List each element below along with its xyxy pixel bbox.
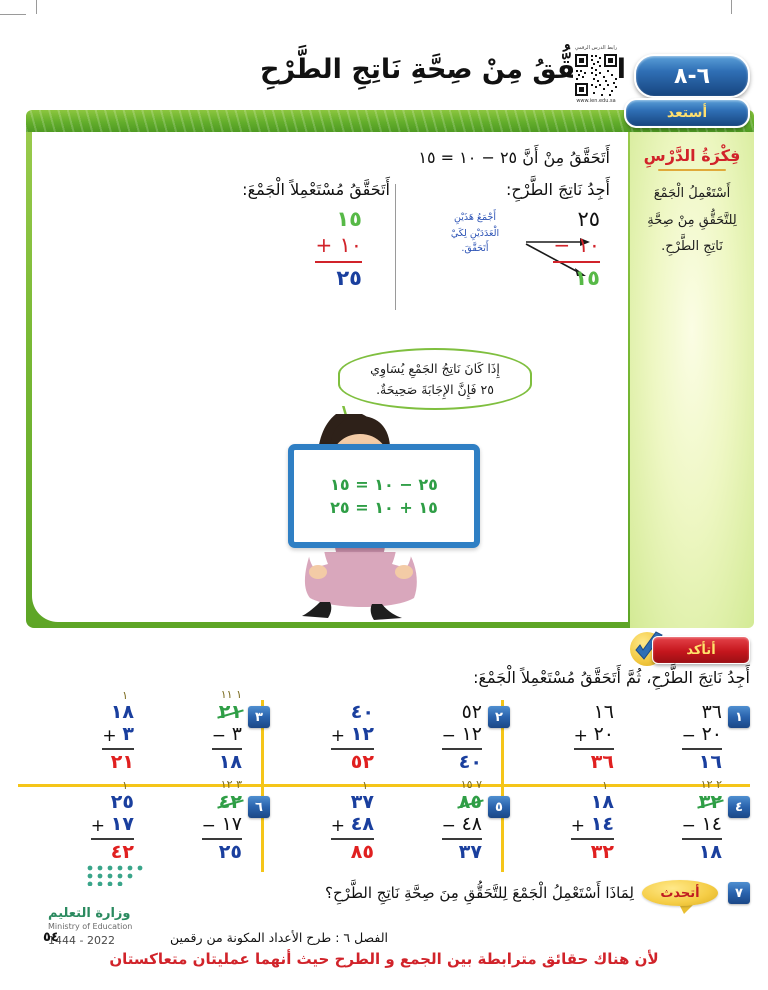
ex1-add-operator: +: [574, 726, 586, 746]
ex6-sub-regroup: ٣ ١٢: [221, 778, 242, 791]
example-addition-heading: أَتَحَقَّقُ مُسْتَعْمِلاً الْجَمْعَ:: [200, 180, 390, 199]
ex2-add-bottom-row: +١٢: [331, 724, 374, 746]
confirm-instruction: أَجِدُ نَاتِجَ الطَّرْحِ، ثُمَّ أَتَحَقَ…: [0, 668, 750, 687]
exercise-cell-2: ٢ ٥٢ −١٢ ٤٠ ٤٠ +١٢ ٥٢: [264, 700, 510, 786]
whiteboard: ٢٥ − ١٠ = ١٥ ١٥ + ١٠ = ٢٥: [288, 444, 480, 548]
ex4-sub-bottom: ١٤: [702, 813, 722, 836]
example-sub-subtrahend: ١٠: [577, 232, 600, 258]
exercise-2-addition: ٤٠ +١٢ ٥٢: [331, 702, 374, 774]
exercise-2-subtraction: ٥٢ −١٢ ٤٠: [442, 702, 482, 774]
ex2-add-result-row[interactable]: ٥٢: [331, 752, 374, 774]
exercise-1-addition: ١٦ +٢٠ ٣٦: [574, 702, 614, 774]
example-add-addend2-row: + ١٠: [315, 232, 362, 258]
ex6-sub-result-row[interactable]: ٢٥: [202, 842, 242, 864]
example-addition-sum: ١٥ + ١٠ ٢٥: [315, 206, 362, 291]
ex2-sub-top-row: ٥٢: [442, 702, 482, 724]
ex5-add-rule: [331, 838, 374, 840]
ex3-add-bottom-row: +٣: [102, 724, 134, 746]
ex2-add-top: ٤٠: [351, 701, 374, 724]
exercise-6-subtraction: ٣ ١٢ ٤٢ −١٧ ٢٥: [202, 792, 242, 864]
ex5-add-bottom: ٤٨: [351, 813, 374, 836]
ex1-sub-bottom-row: −٢٠: [682, 724, 722, 746]
example-add-result: ٢٥: [336, 265, 362, 291]
lesson-idea-divider: [658, 169, 726, 171]
ex5-add-operator: +: [331, 816, 343, 836]
exercise-4-addition: ١ ١٨ +١٤ ٣٢: [571, 792, 614, 864]
ex4-sub-regroup: ٢ ١٢: [701, 778, 722, 791]
qr-caption: رابط الدرس الرقمي: [568, 46, 624, 51]
ex6-sub-top: ٤٢: [219, 791, 242, 814]
lesson-idea-body: أَسْتَعْمِلُ الْجَمْعَ لِلتَّحَقُّقِ مِن…: [636, 181, 748, 261]
lesson-idea-line-2: لِلتَّحَقُّقِ مِنْ صِحَّةِ: [636, 208, 748, 235]
ex4-sub-operator: −: [682, 816, 694, 836]
ex4-sub-bottom-row: −١٤: [682, 814, 722, 836]
ex6-sub-rule: [202, 838, 242, 840]
answer-note: لأن هناك حقائق مترابطة بين الجمع و الطرح…: [0, 950, 768, 968]
ex4-add-result-row[interactable]: ٣٢: [571, 842, 614, 864]
ex3-add-operator: +: [102, 726, 114, 746]
whiteboard-line-1: ٢٥ − ١٠ = ١٥: [330, 475, 438, 494]
example-add-operator: +: [315, 233, 329, 258]
example-add-addend1-row: ١٥: [315, 206, 362, 232]
ex3-add-bottom: ٣: [122, 723, 134, 746]
example-sub-result-row: ١٥: [553, 265, 600, 291]
ex3-sub-operator: −: [212, 726, 224, 746]
ex4-add-bottom: ١٤: [591, 813, 614, 836]
crop-mark-top-right: [731, 0, 732, 14]
ex2-add-rule: [331, 748, 374, 750]
ex6-add-carry: ١: [122, 779, 128, 792]
whiteboard-line-2: ١٥ + ١٠ = ٢٥: [330, 498, 438, 517]
publication-year: 2022 - 1444: [48, 934, 178, 947]
ex3-add-top-row: ١٨: [102, 702, 134, 724]
ex5-add-carry: ١: [362, 779, 368, 792]
ex5-add-bottom-row: +٤٨: [331, 814, 374, 836]
ex5-add-result-row[interactable]: ٨٥: [331, 842, 374, 864]
chapter-label: الفصل ٦ : طرح الأعداد المكونة من رقمين: [170, 930, 388, 945]
ex4-add-rule: [571, 838, 614, 840]
prepare-section-badge: أستعد: [624, 98, 750, 128]
exercise-number-2: ٢: [488, 706, 510, 728]
example-statement: أَتَحَقَّقُ مِنْ أَنَّ ٢٥ − ١٠ = ١٥: [418, 148, 610, 167]
example-addition-column: أَتَحَقَّقُ مُسْتَعْمِلاً الْجَمْعَ: ١٥ …: [200, 180, 390, 205]
ex3-sub-rule: [212, 748, 242, 750]
ex6-add-bottom-row: +١٧: [91, 814, 134, 836]
ex3-sub-result[interactable]: ١٨: [219, 751, 242, 774]
ex5-sub-bottom: ٤٨: [462, 813, 482, 836]
example-add-addend-1: ١٥: [336, 206, 362, 232]
ex6-add-top: ٢٥: [111, 791, 134, 814]
example-sub-operator: −: [553, 233, 567, 258]
qr-code-block[interactable]: رابط الدرس الرقمي: [568, 46, 624, 104]
page-header: ٦-٨ التَّحَقُّقُ مِنْ صِحَّةِ نَاتِجِ ال…: [0, 24, 768, 102]
ex4-sub-rule: [682, 838, 722, 840]
ex6-add-operator: +: [91, 816, 103, 836]
ex1-sub-top: ٣٦: [702, 701, 722, 724]
ex5-sub-bottom-row: −٤٨: [442, 814, 482, 836]
example-hint-line-2: الْعَدَدَيْنِ لِكَيْ: [432, 226, 518, 242]
ministry-name-english: Ministry of Education: [48, 922, 178, 931]
ex5-sub-result[interactable]: ٣٧: [459, 841, 482, 864]
ex6-add-result-row[interactable]: ٤٢: [91, 842, 134, 864]
ex3-sub-result-row[interactable]: ١٨: [212, 752, 242, 774]
exercise-cell-1: ١ ٣٦ −٢٠ ١٦ ١٦ +٢٠ ٣٦: [504, 700, 750, 786]
confirm-section-badge: أتأكد: [652, 636, 750, 664]
talk-badge: أتحدث: [642, 880, 718, 906]
ex1-add-result-row[interactable]: ٣٦: [574, 752, 614, 774]
ex4-add-top-row: ١٨: [571, 792, 614, 814]
ex6-sub-top-row: ٤٢: [202, 792, 242, 814]
ministry-logo: وزارة التعليم Ministry of Education 2022…: [48, 906, 178, 947]
ex6-add-rule: [91, 838, 134, 840]
example-add-rule: [315, 261, 362, 263]
ex3-sub-top: ٢١: [219, 701, 242, 724]
decorative-dots: [86, 864, 160, 886]
example-sub-subtrahend-row: − ١٠: [553, 232, 600, 258]
exercise-number-6: ٦: [248, 796, 270, 818]
lesson-idea-title: فِكْرَةُ الدَّرْسِ: [636, 146, 748, 165]
ex6-add-bottom: ١٧: [111, 813, 134, 836]
exercise-6-addition: ١ ٢٥ +١٧ ٤٢: [91, 792, 134, 864]
talk-question-number: ٧: [728, 882, 750, 904]
ex4-add-result[interactable]: ٣٢: [591, 841, 614, 864]
ex5-sub-result-row[interactable]: ٣٧: [442, 842, 482, 864]
ex6-add-top-row: ٢٥: [91, 792, 134, 814]
ex5-sub-top-row: ٨٥: [442, 792, 482, 814]
ex2-sub-rule: [442, 748, 482, 750]
ex1-sub-operator: −: [682, 726, 694, 746]
exercise-grid: ١ ٣٦ −٢٠ ١٦ ١٦ +٢٠ ٣٦ ٢: [18, 700, 750, 872]
qr-url-label: www.ien.edu.sa: [568, 99, 624, 104]
exercise-4-subtraction: ٢ ١٢ ٣٢ −١٤ ١٨: [682, 792, 722, 864]
ex6-sub-bottom: ١٧: [222, 813, 242, 836]
ex2-sub-operator: −: [442, 726, 454, 746]
ex4-add-operator: +: [571, 816, 583, 836]
example-sub-result: ١٥: [574, 265, 600, 291]
ex2-sub-top: ٥٢: [462, 701, 482, 724]
example-hint-line-1: أَجْمَعُ هَذَيْنِ: [432, 210, 518, 226]
ex1-sub-top-row: ٣٦: [682, 702, 722, 724]
talk-question-text: لِمَاذَا أَسْتَعْمِلُ الْجَمْعَ لِلتَّحَ…: [325, 884, 634, 902]
crop-mark-header-right: [0, 14, 26, 15]
example-add-result-row: ٢٥: [315, 265, 362, 291]
ex2-sub-bottom: ١٢: [462, 723, 482, 746]
ex6-sub-operator: −: [202, 816, 214, 836]
exercise-cell-3: ٣ ١ ١١ ٢١ −٣ ١٨ ١ ١٨ +٣ ٢١: [24, 700, 270, 786]
exercise-number-3: ٣: [248, 706, 270, 728]
ex5-add-top: ٣٧: [351, 791, 374, 814]
ex4-add-top: ١٨: [591, 791, 614, 814]
ex6-add-result[interactable]: ٤٢: [111, 841, 134, 864]
exercise-number-5: ٥: [488, 796, 510, 818]
ex3-add-rule: [102, 748, 134, 750]
ex2-sub-result[interactable]: ٤٠: [459, 751, 482, 774]
ex6-sub-result[interactable]: ٢٥: [219, 841, 242, 864]
lesson-idea-line-1: أَسْتَعْمِلُ الْجَمْعَ: [636, 181, 748, 208]
lesson-idea-line-3: نَاتِجِ الطَّرْحِ.: [636, 234, 748, 261]
exercise-number-4: ٤: [728, 796, 750, 818]
ex1-sub-result[interactable]: ١٦: [699, 751, 722, 774]
ex4-add-carry: ١: [602, 779, 608, 792]
page-number: ٥٤: [43, 930, 59, 945]
ex2-add-top-row: ٤٠: [331, 702, 374, 724]
example-hint-note: أَجْمَعُ هَذَيْنِ الْعَدَدَيْنِ لِكَيْ أ…: [432, 210, 518, 257]
exercise-3-addition: ١ ١٨ +٣ ٢١: [102, 702, 134, 774]
ex2-add-bottom: ١٢: [351, 723, 374, 746]
ex5-add-result[interactable]: ٨٥: [351, 841, 374, 864]
example-sub-rule: [553, 261, 600, 263]
crop-mark-top-left: [36, 0, 37, 14]
example-subtraction-heading: أَجِدُ نَاتِجَ الطَّرْحِ:: [400, 180, 610, 199]
exercise-cell-4: ٤ ٢ ١٢ ٣٢ −١٤ ١٨ ١ ١٨ +١٤ ٣٢: [504, 790, 750, 876]
exercise-1-subtraction: ٣٦ −٢٠ ١٦: [682, 702, 722, 774]
ex5-sub-operator: −: [442, 816, 454, 836]
ex3-add-carry: ١: [122, 689, 128, 702]
ex5-add-top-row: ٣٧: [331, 792, 374, 814]
example-column-divider: [395, 184, 396, 310]
ex4-sub-top: ٣٢: [699, 791, 722, 814]
ex3-sub-top-row: ٢١: [212, 702, 242, 724]
ex2-sub-bottom-row: −١٢: [442, 724, 482, 746]
ex3-add-result-row[interactable]: ٢١: [102, 752, 134, 774]
ex3-sub-regroup: ١ ١١: [221, 688, 242, 701]
ex1-sub-rule: [682, 748, 722, 750]
ex6-sub-bottom-row: −١٧: [202, 814, 242, 836]
example-subtraction-sum: ٢٥ − ١٠ ١٥: [553, 206, 600, 291]
ex4-add-bottom-row: +١٤: [571, 814, 614, 836]
qr-code-icon[interactable]: [573, 52, 619, 98]
ex1-add-top-row: ١٦: [574, 702, 614, 724]
ministry-name-arabic: وزارة التعليم: [48, 906, 178, 921]
ex5-sub-regroup: ٧ ١٥: [461, 778, 482, 791]
ex2-add-result[interactable]: ٥٢: [351, 751, 374, 774]
exercise-3-subtraction: ١ ١١ ٢١ −٣ ١٨: [212, 702, 242, 774]
ex2-add-operator: +: [331, 726, 343, 746]
exercise-number-1: ١: [728, 706, 750, 728]
example-sub-minuend-row: ٢٥: [553, 206, 600, 232]
ex2-sub-result-row[interactable]: ٤٠: [442, 752, 482, 774]
ex1-add-bottom-row: +٢٠: [574, 724, 614, 746]
textbook-page: ٦-٨ التَّحَقُّقُ مِنْ صِحَّةِ نَاتِجِ ال…: [0, 0, 768, 990]
ex3-sub-bottom-row: −٣: [212, 724, 242, 746]
ex1-add-result[interactable]: ٣٦: [591, 751, 614, 774]
ex1-add-top: ١٦: [594, 701, 614, 724]
ex1-add-rule: [574, 748, 614, 750]
lesson-number-badge: ٦-٨: [634, 54, 750, 98]
ex5-sub-rule: [442, 838, 482, 840]
ex1-add-bottom: ٢٠: [594, 723, 614, 746]
ex3-add-top: ١٨: [111, 701, 134, 724]
exercise-5-subtraction: ٧ ١٥ ٨٥ −٤٨ ٣٧: [442, 792, 482, 864]
ex3-add-result[interactable]: ٢١: [111, 751, 134, 774]
example-subtraction-column: أَجِدُ نَاتِجَ الطَّرْحِ: أَجْمَعُ هَذَي…: [400, 180, 610, 205]
ex5-sub-top: ٨٥: [459, 791, 482, 814]
ex4-sub-top-row: ٣٢: [682, 792, 722, 814]
example-hint-line-3: أَتَحَقَّقَ.: [432, 241, 518, 257]
ex1-sub-bottom: ٢٠: [702, 723, 722, 746]
ex4-sub-result-row[interactable]: ١٨: [682, 842, 722, 864]
ex1-sub-result-row[interactable]: ١٦: [682, 752, 722, 774]
example-add-addend-2: ١٠: [339, 232, 362, 258]
lesson-idea-sidebar: فِكْرَةُ الدَّرْسِ أَسْتَعْمِلُ الْجَمْع…: [630, 132, 754, 628]
exercise-5-addition: ١ ٣٧ +٤٨ ٨٥: [331, 792, 374, 864]
ex3-sub-bottom: ٣: [232, 723, 242, 746]
example-sub-minuend: ٢٥: [577, 206, 600, 232]
ex4-sub-result[interactable]: ١٨: [699, 841, 722, 864]
exercise-cell-5: ٥ ٧ ١٥ ٨٥ −٤٨ ٣٧ ١ ٣٧ +٤٨ ٨٥: [264, 790, 510, 876]
